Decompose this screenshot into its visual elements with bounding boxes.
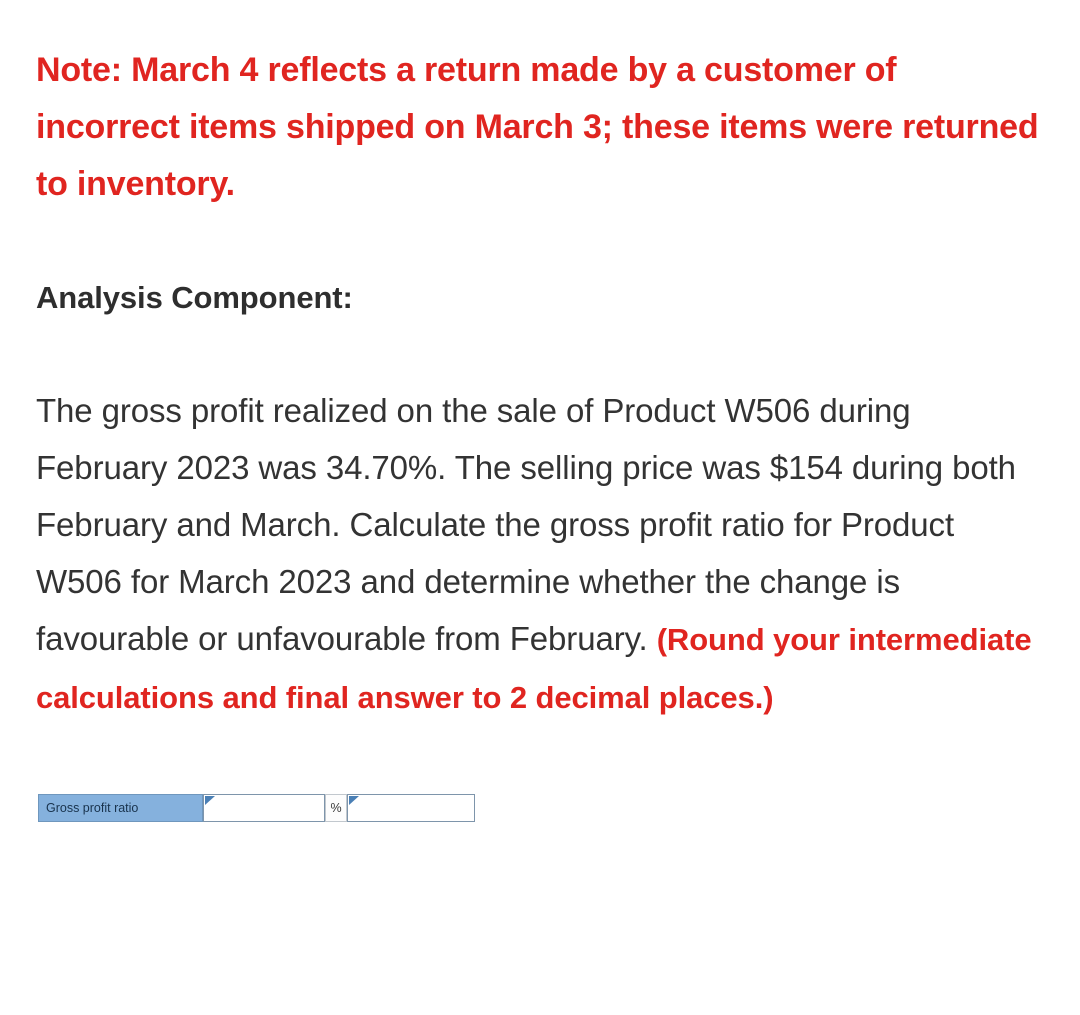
note-callout: Note: March 4 reflects a return made by … [36,30,1044,213]
fillable-corner-marker-icon [205,796,215,805]
percent-unit-cell: % [325,794,347,822]
gross-profit-ratio-input-cell[interactable] [203,794,325,822]
question-page: Note: March 4 reflects a return made by … [0,0,1080,822]
question-body: The gross profit realized on the sale of… [36,326,1044,726]
section-heading-analysis-component: Analysis Component: [36,213,1044,326]
gross-profit-ratio-input[interactable] [204,795,324,821]
fillable-corner-marker-icon [349,796,359,805]
favourable-status-input-cell[interactable] [347,794,475,822]
answer-widget: Gross profit ratio % [36,726,1044,822]
answer-row-label-cell: Gross profit ratio [38,794,203,822]
percent-symbol: % [330,801,341,815]
question-body-text: The gross profit realized on the sale of… [36,392,1016,657]
answer-row-label: Gross profit ratio [46,801,138,815]
answer-table-row: Gross profit ratio % [38,794,475,822]
favourable-status-input[interactable] [348,795,474,821]
